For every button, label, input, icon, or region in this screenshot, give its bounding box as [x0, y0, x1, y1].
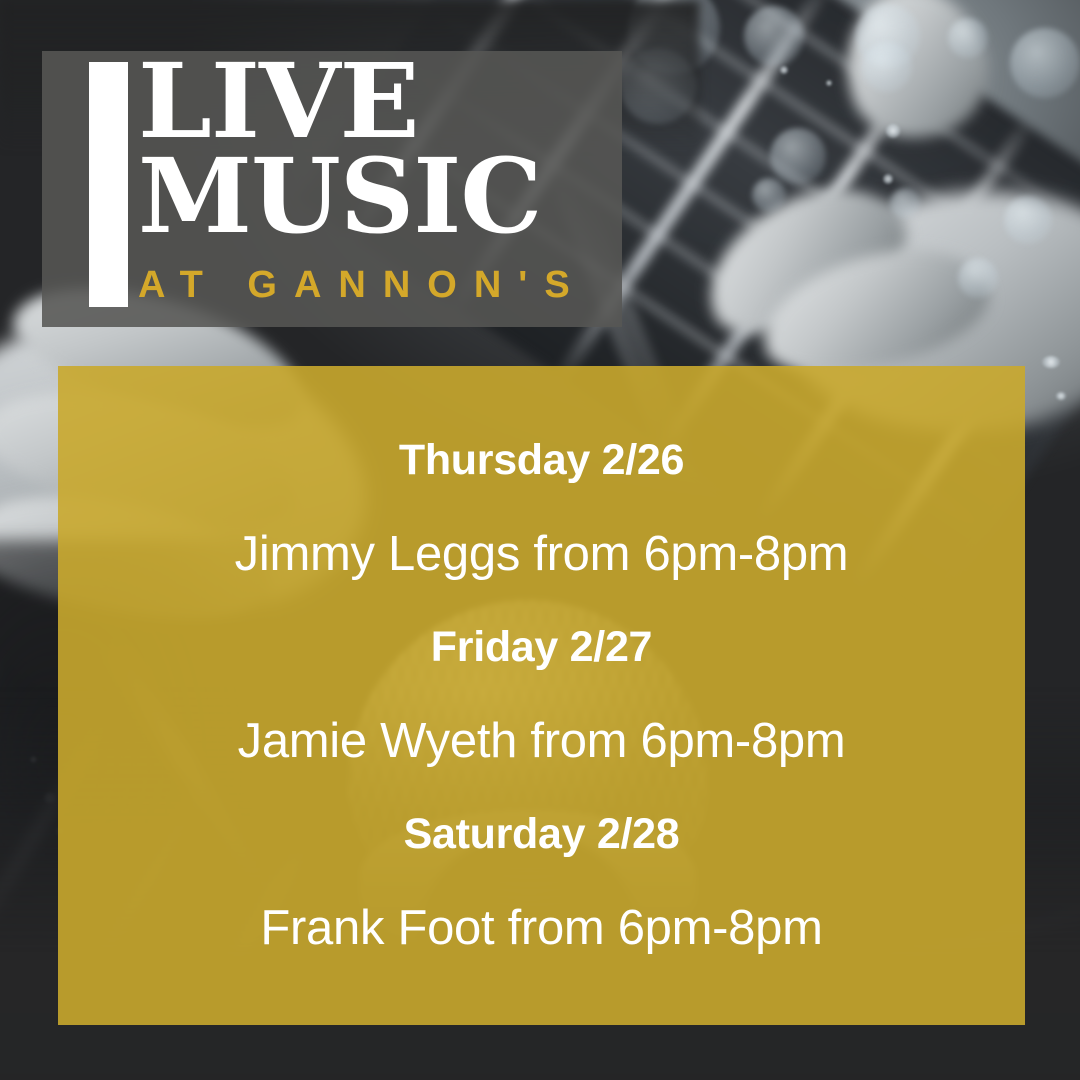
live-music-poster: LIVE MUSIC AT GANNON'S Thursday 2/26 Jim… — [0, 0, 1080, 1080]
schedule-panel: Thursday 2/26 Jimmy Leggs from 6pm-8pm F… — [58, 366, 1025, 1025]
schedule-act-1: Jimmy Leggs from 6pm-8pm — [235, 530, 849, 579]
logo-accent-bar — [89, 62, 128, 307]
logo-wordmark: LIVE MUSIC AT GANNON'S — [138, 51, 608, 307]
logo-header-block: LIVE MUSIC AT GANNON'S — [42, 51, 622, 327]
schedule-day-1: Thursday 2/26 — [399, 439, 684, 482]
schedule-act-3: Frank Foot from 6pm-8pm — [260, 904, 822, 953]
logo-title-line-1: LIVE — [138, 59, 617, 146]
logo-subtitle: AT GANNON'S — [138, 264, 608, 307]
schedule-day-2: Friday 2/27 — [431, 626, 652, 669]
schedule-act-2: Jamie Wyeth from 6pm-8pm — [238, 717, 846, 766]
logo-title-line-2: MUSIC — [138, 154, 608, 241]
schedule-day-3: Saturday 2/28 — [404, 813, 680, 856]
